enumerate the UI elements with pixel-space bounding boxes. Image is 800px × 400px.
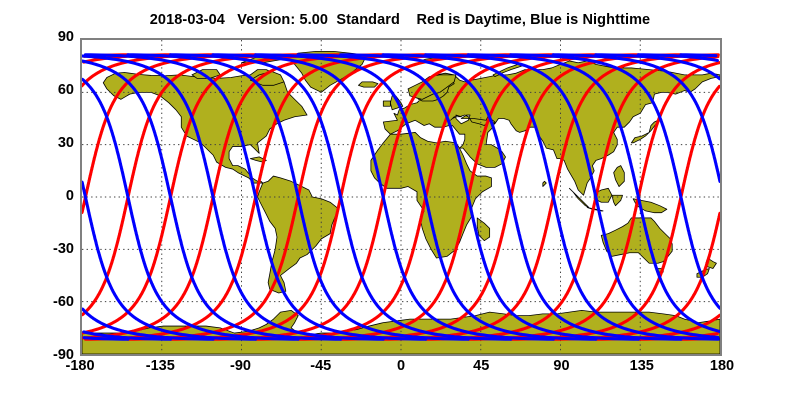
- x-tick-90: 90: [527, 358, 597, 374]
- x-tick-neg45: -45: [286, 358, 356, 374]
- landmass-ireland: [383, 101, 390, 106]
- y-tick-neg30: -30: [28, 241, 74, 257]
- map-plot-area[interactable]: [80, 38, 722, 356]
- world-map-svg: [82, 40, 720, 354]
- x-tick-neg180: -180: [45, 358, 115, 374]
- x-tick-135: 135: [607, 358, 677, 374]
- page-title: 2018-03-04 Version: 5.00 Standard Red is…: [0, 12, 800, 28]
- y-tick-30: 30: [28, 135, 74, 151]
- nighttime-ground-track: [84, 338, 128, 339]
- x-tick-0: 0: [366, 358, 436, 374]
- ground-track-figure: 2018-03-04 Version: 5.00 Standard Red is…: [0, 0, 800, 400]
- x-tick-180: 180: [687, 358, 757, 374]
- y-tick-60: 60: [28, 82, 74, 98]
- y-tick-neg60: -60: [28, 294, 74, 310]
- y-tick-90: 90: [28, 29, 74, 45]
- x-tick-45: 45: [446, 358, 516, 374]
- x-tick-neg135: -135: [125, 358, 195, 374]
- y-tick-0: 0: [28, 188, 74, 204]
- landmass-iceland: [358, 82, 377, 87]
- x-tick-neg90: -90: [206, 358, 276, 374]
